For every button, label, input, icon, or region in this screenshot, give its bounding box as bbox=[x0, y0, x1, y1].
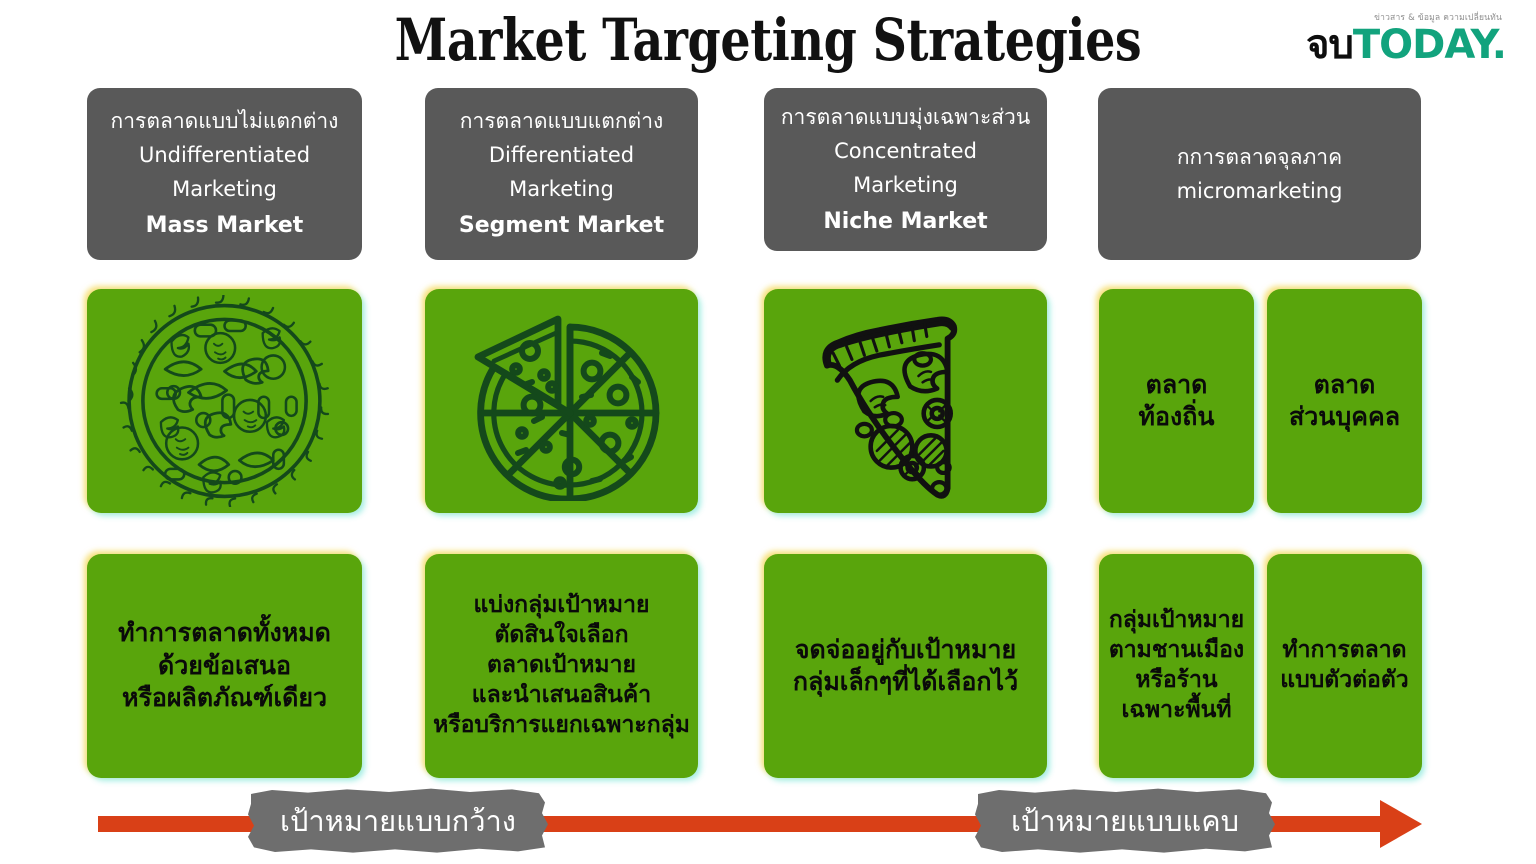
logo-english-text: TODAY. bbox=[1353, 22, 1506, 68]
description-line: กลุ่มเล็กๆที่ได้เลือกไว้ bbox=[793, 666, 1018, 699]
description-text: ทำการตลาดทั้งหมด ด้วยข้อเสนอ หรือผลิตภัณ… bbox=[118, 617, 331, 715]
page-title: Market Targeting Strategies bbox=[138, 6, 1398, 74]
icon-card-sliced-pizza bbox=[425, 289, 698, 513]
description-line: หรือผลิตภัณฑ์เดียว bbox=[118, 682, 331, 715]
description-line: ตัดสินใจเลือก bbox=[433, 621, 690, 651]
description-line: กลุ่มเป้าหมาย bbox=[1109, 606, 1244, 636]
sub-market-label-individual: ตลาด ส่วนบุคคล bbox=[1289, 369, 1400, 434]
whole-pizza-icon bbox=[117, 295, 332, 507]
description-line: ตลาดเป้าหมาย bbox=[433, 651, 690, 681]
sub-market-card-individual: ตลาด ส่วนบุคคล bbox=[1267, 289, 1422, 513]
description-line: จดจ่ออยู่กับเป้าหมาย bbox=[793, 634, 1018, 667]
narrow-target-banner: เป้าหมายแบบแคบ bbox=[975, 788, 1275, 854]
description-line: ตามชานเมือง bbox=[1109, 636, 1244, 666]
header-english-line2: Marketing bbox=[172, 172, 277, 206]
sub-market-label-line1: ตลาด bbox=[1289, 369, 1400, 402]
header-market-label: Segment Market bbox=[459, 208, 664, 244]
logo-wordmark: จบTODAY. bbox=[1306, 25, 1506, 65]
logo-thai-text: จบ bbox=[1306, 22, 1353, 68]
header-card-concentrated: การตลาดแบบมุ่งเฉพาะส่วน Concentrated Mar… bbox=[764, 88, 1047, 251]
description-text: แบ่งกลุ่มเป้าหมาย ตัดสินใจเลือก ตลาดเป้า… bbox=[433, 591, 690, 740]
description-line: เฉพาะพื้นที่ bbox=[1109, 696, 1244, 726]
header-english-line2: Marketing bbox=[853, 168, 958, 202]
description-line: แบบตัวต่อตัว bbox=[1280, 666, 1408, 696]
description-card-individual-market: ทำการตลาด แบบตัวต่อตัว bbox=[1267, 554, 1422, 778]
description-line: หรือบริการแยกเฉพาะกลุ่ม bbox=[433, 711, 690, 741]
header-english-line1: micromarketing bbox=[1177, 174, 1343, 208]
header-thai-label: การตลาดแบบมุ่งเฉพาะส่วน bbox=[781, 100, 1030, 134]
arrow-head-icon bbox=[1380, 800, 1422, 848]
header-english-line2: Marketing bbox=[509, 172, 614, 206]
targeting-spectrum-arrow: เป้าหมายแบบกว้าง เป้าหมายแบบแคบ bbox=[0, 786, 1536, 864]
description-text: ทำการตลาด แบบตัวต่อตัว bbox=[1280, 636, 1408, 696]
brand-logo: ข่าวสาร & ข้อมูล ความเปลี่ยนทัน จบTODAY. bbox=[1306, 14, 1506, 65]
sub-market-card-local: ตลาด ท้องถิ่น bbox=[1099, 289, 1254, 513]
description-card-mass-market: ทำการตลาดทั้งหมด ด้วยข้อเสนอ หรือผลิตภัณ… bbox=[87, 554, 362, 778]
description-line: หรือร้าน bbox=[1109, 666, 1244, 696]
sliced-pizza-icon bbox=[462, 301, 662, 501]
sub-market-label-line2: ส่วนบุคคล bbox=[1289, 401, 1400, 434]
header-thai-label: การตลาดแบบไม่แตกต่าง bbox=[111, 104, 339, 138]
header-card-micromarketing: กการตลาดจุลภาค micromarketing bbox=[1098, 88, 1421, 260]
description-card-niche-market: จดจ่ออยู่กับเป้าหมาย กลุ่มเล็กๆที่ได้เลื… bbox=[764, 554, 1047, 778]
header-market-label: Mass Market bbox=[146, 208, 304, 244]
icon-card-whole-pizza bbox=[87, 289, 362, 513]
icon-card-pizza-slice bbox=[764, 289, 1047, 513]
header-thai-label: กการตลาดจุลภาค bbox=[1177, 140, 1342, 174]
description-line: และนำเสนอสินค้า bbox=[433, 681, 690, 711]
header-card-undifferentiated: การตลาดแบบไม่แตกต่าง Undifferentiated Ma… bbox=[87, 88, 362, 260]
description-text: จดจ่ออยู่กับเป้าหมาย กลุ่มเล็กๆที่ได้เลื… bbox=[793, 634, 1018, 699]
sub-market-label-line2: ท้องถิ่น bbox=[1139, 401, 1215, 434]
header-market-label: Niche Market bbox=[823, 204, 987, 240]
header-english-line1: Differentiated bbox=[489, 138, 634, 172]
header-card-differentiated: การตลาดแบบแตกต่าง Differentiated Marketi… bbox=[425, 88, 698, 260]
description-line: ด้วยข้อเสนอ bbox=[118, 650, 331, 683]
pizza-slice-icon bbox=[801, 297, 1011, 505]
header-english-line1: Concentrated bbox=[834, 134, 977, 168]
description-line: ทำการตลาด bbox=[1280, 636, 1408, 666]
description-line: แบ่งกลุ่มเป้าหมาย bbox=[433, 591, 690, 621]
description-text: กลุ่มเป้าหมาย ตามชานเมือง หรือร้าน เฉพาะ… bbox=[1109, 606, 1244, 726]
description-card-segment-market: แบ่งกลุ่มเป้าหมาย ตัดสินใจเลือก ตลาดเป้า… bbox=[425, 554, 698, 778]
description-card-local-market: กลุ่มเป้าหมาย ตามชานเมือง หรือร้าน เฉพาะ… bbox=[1099, 554, 1254, 778]
sub-market-label-local: ตลาด ท้องถิ่น bbox=[1139, 369, 1215, 434]
header-english-line1: Undifferentiated bbox=[139, 138, 310, 172]
description-line: ทำการตลาดทั้งหมด bbox=[118, 617, 331, 650]
sub-market-label-line1: ตลาด bbox=[1139, 369, 1215, 402]
broad-target-banner: เป้าหมายแบบกว้าง bbox=[248, 788, 548, 854]
header-thai-label: การตลาดแบบแตกต่าง bbox=[460, 104, 664, 138]
